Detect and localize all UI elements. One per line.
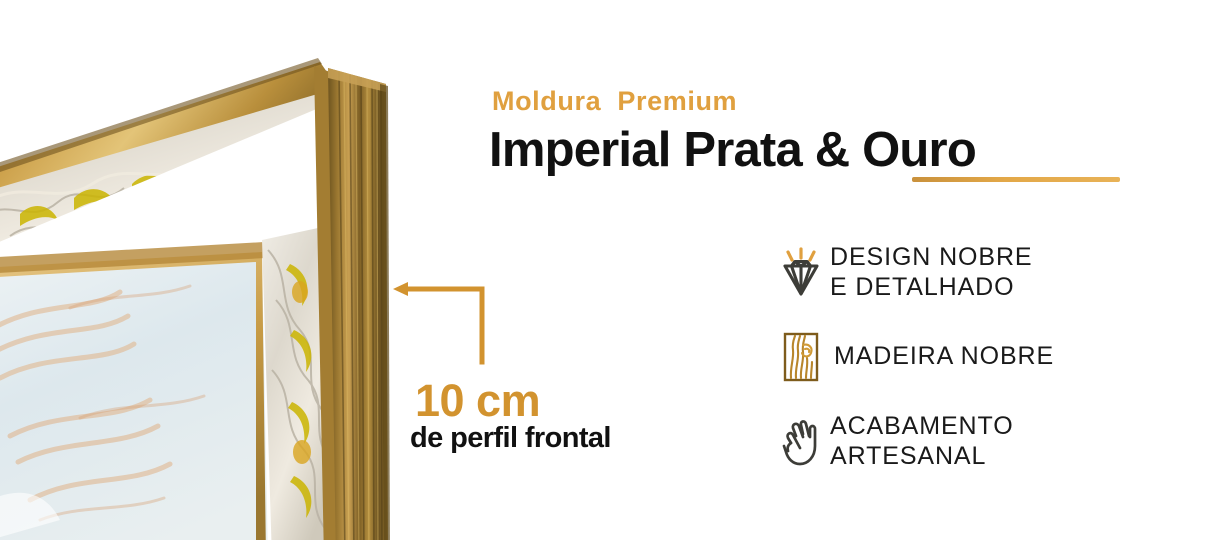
feature-list: DESIGN NOBRE E DETALHADO — [772, 243, 1112, 497]
frame-side-profile — [328, 68, 390, 540]
promo-banner: Moldura Premium Imperial Prata & Ouro 10… — [0, 0, 1209, 540]
product-frame-photo — [0, 0, 400, 540]
eyebrow-label: Moldura Premium — [492, 86, 737, 117]
dimension-value: 10 cm — [415, 378, 540, 423]
feature-item-wood: MADEIRA NOBRE — [772, 328, 1112, 386]
feature-item-design: DESIGN NOBRE E DETALHADO — [772, 243, 1112, 302]
artwork-canvas — [0, 250, 280, 540]
dimension-arrow-left — [392, 276, 492, 368]
feature-label: DESIGN NOBRE E DETALHADO — [830, 243, 1033, 302]
dimension-caption: de perfil frontal — [410, 424, 611, 453]
feature-item-finish: ACABAMENTO ARTESANAL — [772, 412, 1112, 471]
page-title: Imperial Prata & Ouro — [489, 126, 976, 175]
hand-icon — [772, 413, 830, 471]
wood-grain-icon — [772, 328, 830, 386]
title-underline-accent — [912, 177, 1120, 182]
diamond-icon — [772, 244, 830, 302]
feature-label: MADEIRA NOBRE — [830, 342, 1054, 372]
feature-label: ACABAMENTO ARTESANAL — [830, 412, 1014, 471]
